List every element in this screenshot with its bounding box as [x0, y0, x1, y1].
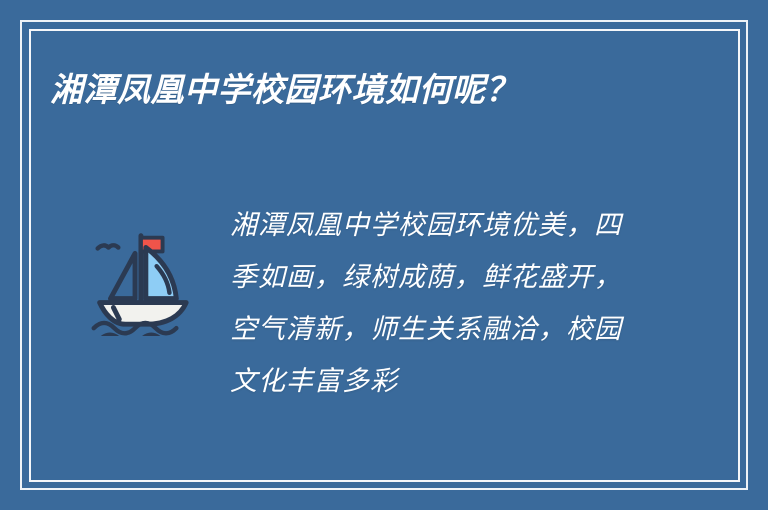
page-title: 湘潭凤凰中学校园环境如何呢？ — [50, 70, 519, 110]
body-line: 湘潭凤凰中学校园环境优美，四 — [230, 200, 650, 252]
poster-canvas: 湘潭凤凰中学校园环境如何呢？ — [0, 0, 768, 510]
body-line: 文化丰富多彩 — [230, 356, 650, 408]
content-row: 湘潭凤凰中学校园环境优美，四 季如画，绿树成荫，鲜花盛开， 空气清新，师生关系融… — [0, 200, 768, 408]
body-paragraph: 湘潭凤凰中学校园环境优美，四 季如画，绿树成荫，鲜花盛开， 空气清新，师生关系融… — [230, 200, 650, 408]
sailboat-illustration — [78, 218, 208, 336]
body-line: 季如画，绿树成荫，鲜花盛开， — [230, 252, 650, 304]
body-line: 空气清新，师生关系融洽，校园 — [230, 304, 650, 356]
